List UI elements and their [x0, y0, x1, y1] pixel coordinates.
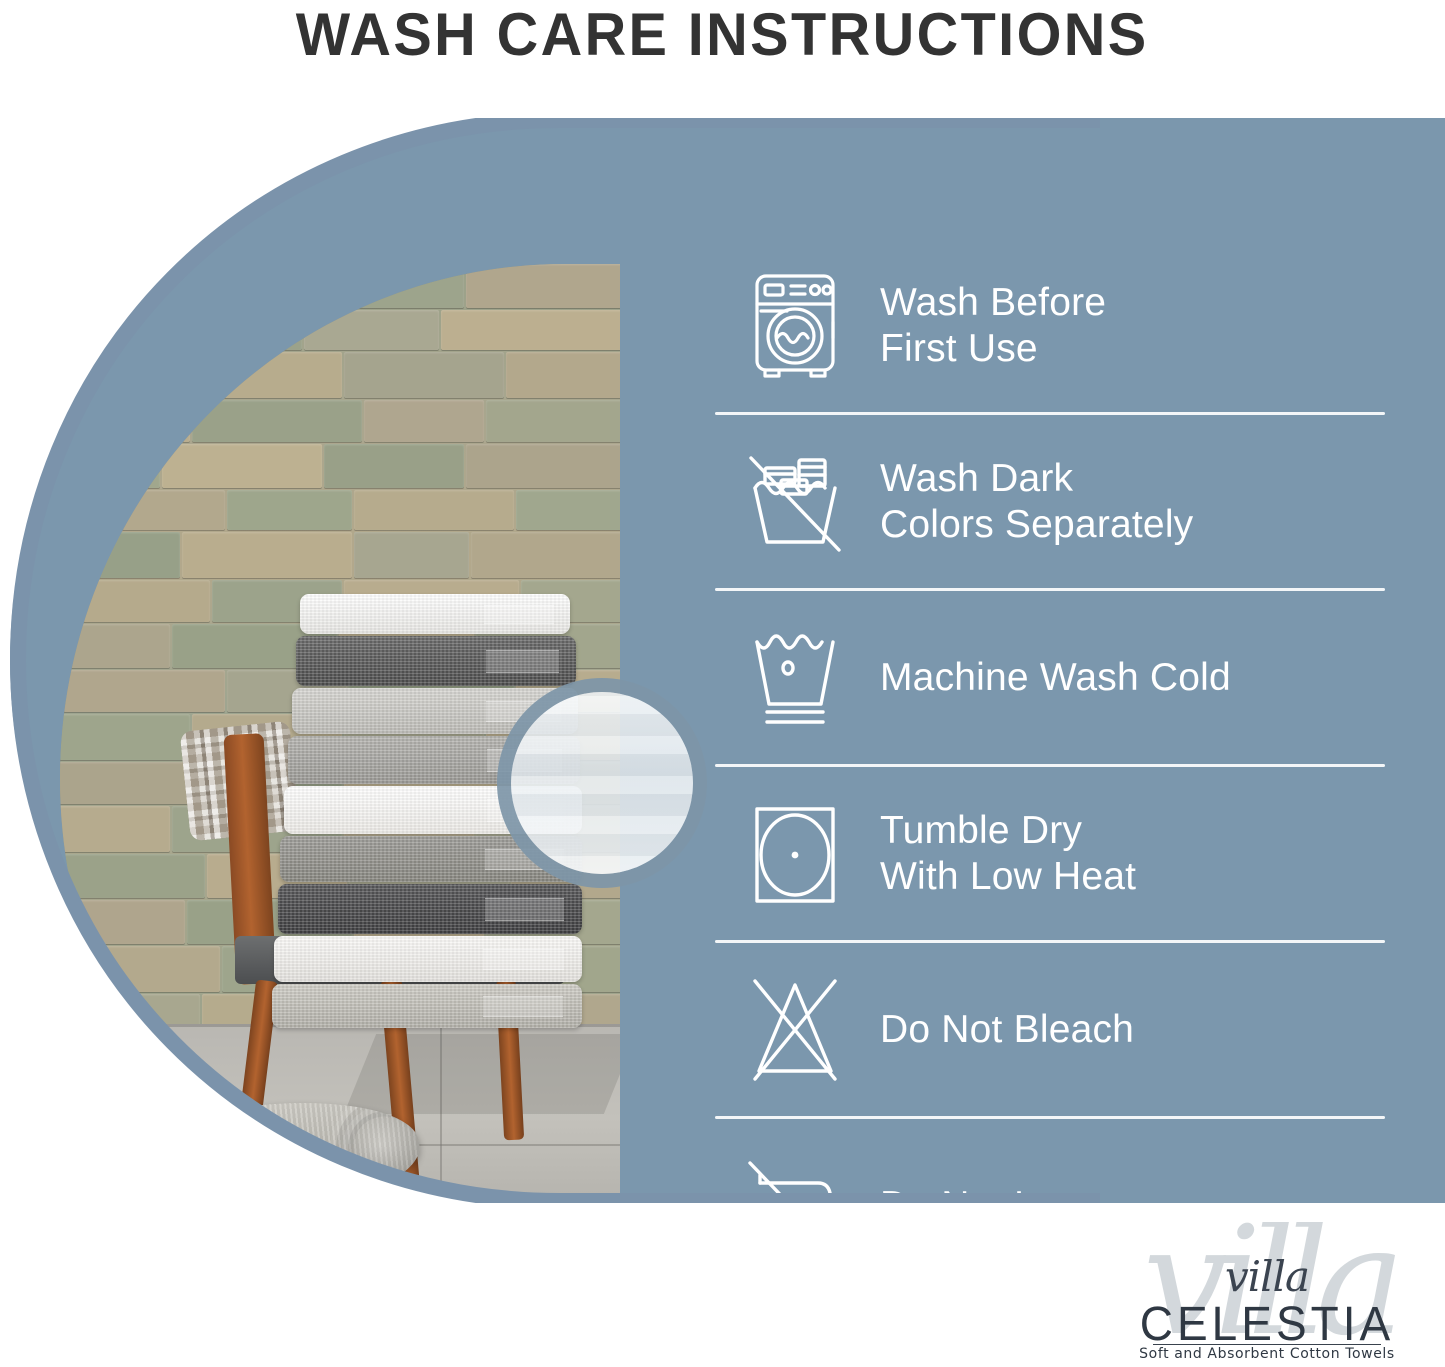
- instruction-label: Wash Dark Colors Separately: [880, 456, 1193, 547]
- tumble-dry-low-heat-icon: [710, 801, 880, 907]
- instruction-divider: [715, 412, 1385, 415]
- logo-script-name: villa: [1117, 1252, 1417, 1301]
- folded-towel-white-low: [274, 936, 582, 982]
- folded-towel-charcoal: [296, 636, 576, 686]
- logo-brand-name: CELESTIA: [1117, 1295, 1417, 1352]
- instruction-label: Machine Wash Cold: [880, 655, 1231, 701]
- instruction-row-wash-dark-colors-separately: Wash Dark Colors Separately: [710, 429, 1410, 574]
- instruction-label: Do Not Iron: [880, 1183, 1082, 1203]
- instruction-row-do-not-iron: Do Not Iron: [710, 1133, 1410, 1203]
- instruction-row-machine-wash-cold: Machine Wash Cold: [710, 605, 1410, 750]
- page-title: WASH CARE INSTRUCTIONS: [296, 5, 1149, 65]
- instruction-row-tumble-dry-low-heat: Tumble Dry With Low Heat: [710, 781, 1410, 926]
- do-not-iron-icon: [710, 1153, 880, 1204]
- instruction-divider: [715, 764, 1385, 767]
- instruction-label: Tumble Dry With Low Heat: [880, 808, 1136, 899]
- machine-wash-cold-icon: [710, 626, 880, 730]
- folded-towel-beige: [272, 984, 582, 1028]
- magnifier-lens: [511, 692, 693, 874]
- do-not-bleach-icon: [710, 977, 880, 1083]
- folded-towel-white-top: [300, 594, 570, 634]
- instruction-list: Wash Before First Use Wash Dark Colors S…: [710, 253, 1410, 1203]
- logo-underline: [1153, 1344, 1381, 1345]
- folded-towel-darkgray: [278, 884, 582, 934]
- instruction-label: Do Not Bleach: [880, 1007, 1134, 1053]
- instruction-label: Wash Before First Use: [880, 280, 1106, 371]
- magnifier-zoom-circle: [497, 678, 707, 888]
- instruction-row-wash-before-first-use: Wash Before First Use: [710, 253, 1410, 398]
- brand-logo: villa villa CELESTIA Soft and Absorbent …: [1117, 1226, 1417, 1361]
- instruction-divider: [715, 940, 1385, 943]
- page-header: WASH CARE INSTRUCTIONS: [0, 0, 1445, 70]
- instruction-row-do-not-bleach: Do Not Bleach: [710, 957, 1410, 1102]
- washing-machine-icon: [710, 270, 880, 382]
- logo-tagline: Soft and Absorbent Cotton Towels: [1117, 1346, 1417, 1362]
- content-panel: Wash Before First Use Wash Dark Colors S…: [10, 118, 1445, 1203]
- instruction-divider: [715, 1116, 1385, 1119]
- instruction-divider: [715, 588, 1385, 591]
- no-mixed-colors-basket-icon: [710, 450, 880, 554]
